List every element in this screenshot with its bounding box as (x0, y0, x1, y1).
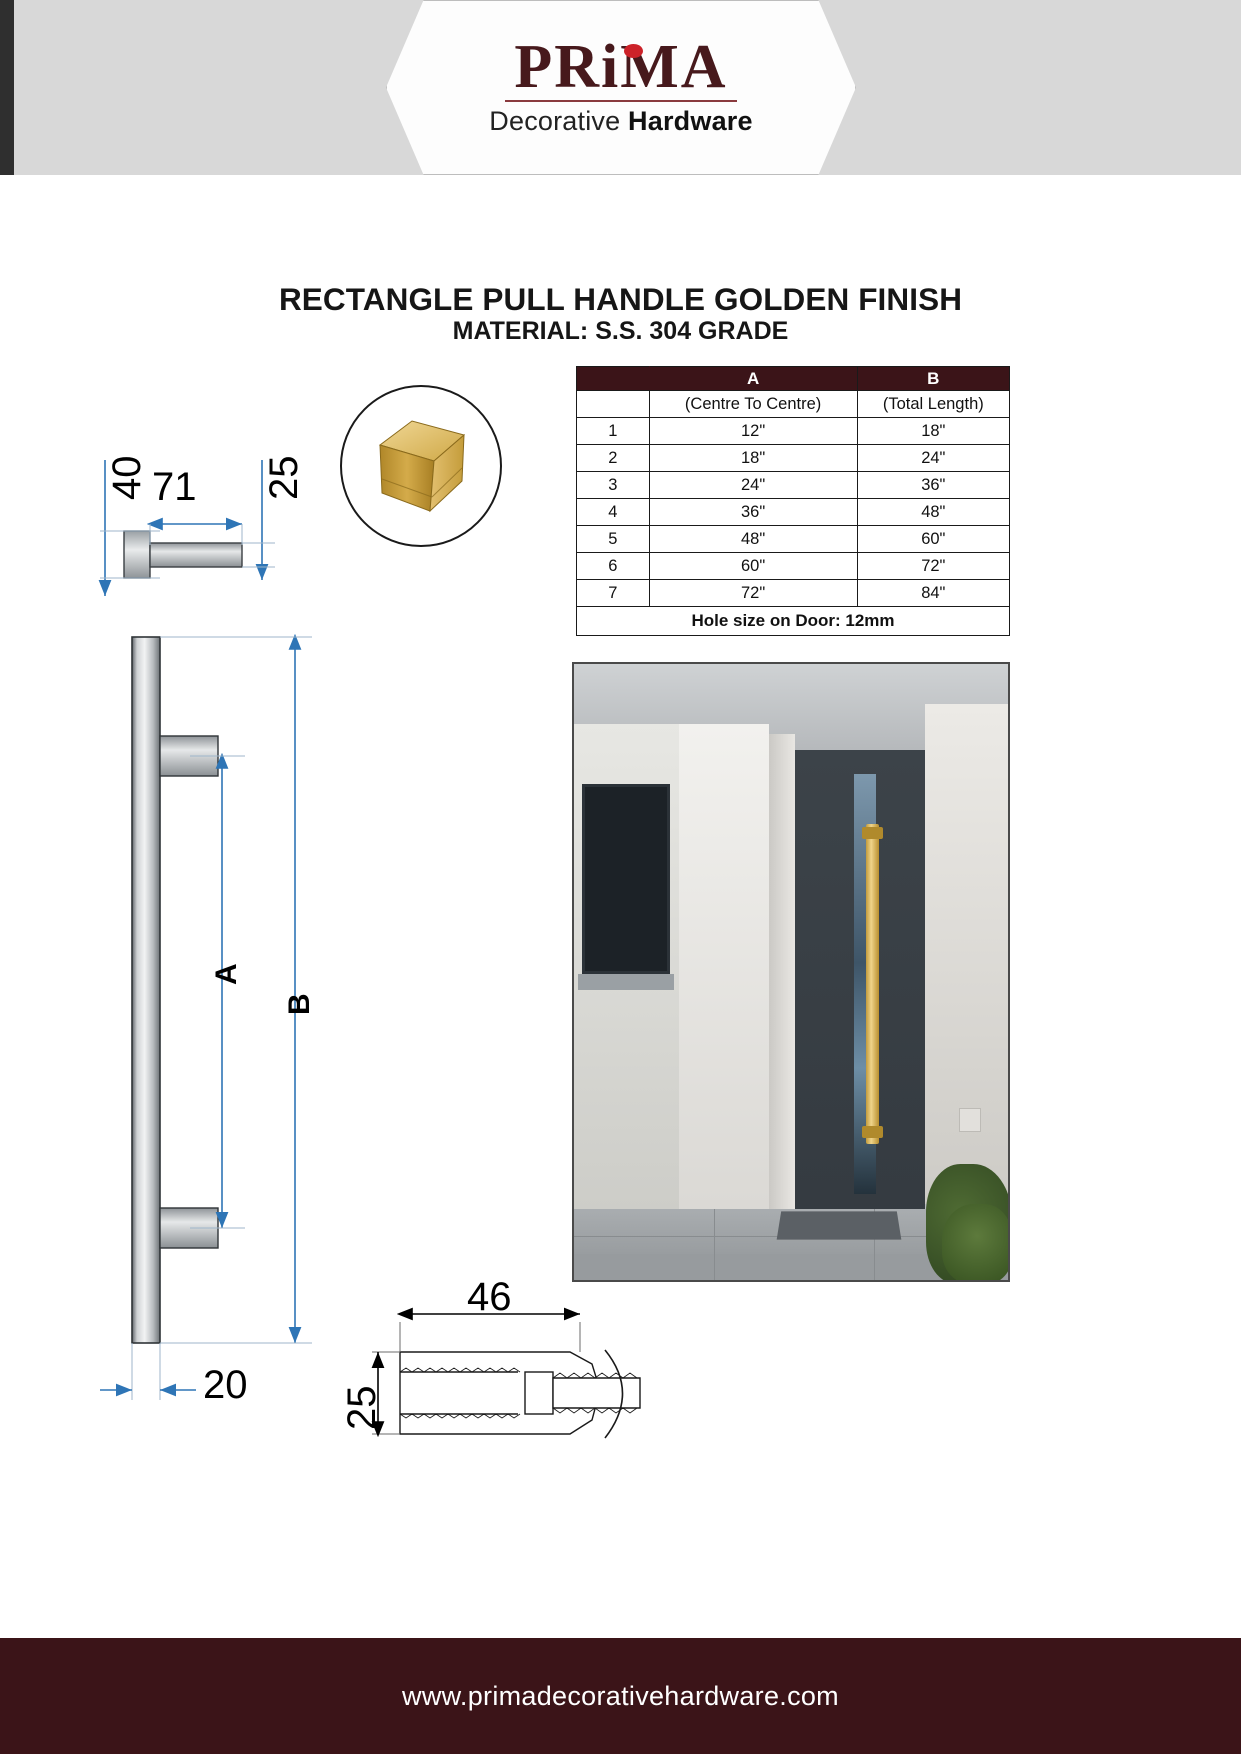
table-row: 5 48" 60" (577, 526, 1010, 553)
page-subtitle: MATERIAL: S.S. 304 GRADE (0, 317, 1241, 346)
dimension-label-71: 71 (152, 465, 197, 510)
photo-pull-handle (866, 824, 879, 1144)
dimension-71 (150, 524, 242, 545)
installation-photo (572, 662, 1010, 1282)
row-index: 2 (577, 445, 650, 472)
photo-handle-standoff-bottom (862, 1126, 883, 1138)
photo-paving-line (714, 1209, 715, 1282)
row-index: 3 (577, 472, 650, 499)
photo-wall-socket (959, 1108, 981, 1132)
dimension-b (160, 637, 312, 1343)
photo-window (582, 784, 670, 974)
photo-door-mat (777, 1211, 902, 1239)
table-row: 3 24" 36" (577, 472, 1010, 499)
handle-front-view (132, 637, 218, 1343)
standoff-stud-detail (400, 1350, 640, 1438)
profile-detail-circle (340, 385, 502, 547)
brand-tagline-light: Decorative (489, 106, 628, 136)
row-a-value: 72" (649, 580, 857, 607)
dimension-label-25-top: 25 (262, 456, 307, 501)
photo-shrub (942, 1204, 1010, 1282)
table-header: A B (577, 367, 1010, 391)
table-row: 6 60" 72" (577, 553, 1010, 580)
row-index: 4 (577, 499, 650, 526)
page-footer: www.primadecorativehardware.com (0, 1638, 1241, 1754)
dimension-label-20: 20 (203, 1363, 248, 1408)
table-row: 2 18" 24" (577, 445, 1010, 472)
dimension-label-b: B (283, 993, 317, 1015)
row-a-value: 24" (649, 472, 857, 499)
specification-table: A B (Centre To Centre) (Total Length) 1 … (576, 366, 1010, 636)
table-subheader-b: (Total Length) (857, 391, 1009, 418)
photo-window-sill (578, 974, 674, 990)
table-header-a: A (649, 367, 857, 391)
brand-logo-plate: PRiMA Decorative Hardware (386, 0, 856, 175)
website-url[interactable]: www.primadecorativehardware.com (0, 1638, 1241, 1754)
table-header-blank (577, 367, 650, 391)
photo-door-reveal (769, 734, 795, 1254)
dimension-20 (100, 1343, 196, 1400)
table-header-b: B (857, 367, 1009, 391)
brand-name: PRiMA (514, 33, 727, 101)
row-index: 1 (577, 418, 650, 445)
table-subheader-row: (Centre To Centre) (Total Length) (577, 391, 1010, 418)
row-index: 7 (577, 580, 650, 607)
standoff-side-view (124, 531, 242, 578)
row-b-value: 36" (857, 472, 1009, 499)
dimension-label-a: A (210, 963, 244, 985)
table-note-row: Hole size on Door: 12mm (577, 607, 1010, 636)
page-title: RECTANGLE PULL HANDLE GOLDEN FINISH (0, 281, 1241, 318)
dimension-a (190, 756, 245, 1228)
row-b-value: 72" (857, 553, 1009, 580)
brand-tagline-bold: Hardware (628, 106, 753, 136)
golden-profile-icon (372, 415, 468, 519)
row-a-value: 60" (649, 553, 857, 580)
table-row: 4 36" 48" (577, 499, 1010, 526)
dimension-label-25-stud: 25 (340, 1386, 385, 1431)
row-b-value: 60" (857, 526, 1009, 553)
dimension-label-40: 40 (105, 456, 150, 501)
dimension-label-46: 46 (467, 1275, 512, 1320)
row-a-value: 48" (649, 526, 857, 553)
row-b-value: 18" (857, 418, 1009, 445)
row-a-value: 36" (649, 499, 857, 526)
table-subheader-no (577, 391, 650, 418)
table-subheader-a: (Centre To Centre) (649, 391, 857, 418)
row-b-value: 48" (857, 499, 1009, 526)
photo-wall-mid (679, 724, 769, 1264)
row-b-value: 84" (857, 580, 1009, 607)
row-index: 5 (577, 526, 650, 553)
header-left-tab (0, 0, 14, 175)
row-a-value: 18" (649, 445, 857, 472)
table-row: 1 12" 18" (577, 418, 1010, 445)
hole-size-note: Hole size on Door: 12mm (577, 607, 1010, 636)
row-b-value: 24" (857, 445, 1009, 472)
brand-tagline: Decorative Hardware (489, 106, 752, 137)
row-a-value: 12" (649, 418, 857, 445)
brand-wordmark: PRiMA (514, 38, 727, 98)
table-row: 7 72" 84" (577, 580, 1010, 607)
row-index: 6 (577, 553, 650, 580)
page-header: PRiMA Decorative Hardware (0, 0, 1241, 175)
table-body: (Centre To Centre) (Total Length) 1 12" … (577, 391, 1010, 636)
photo-handle-standoff-top (862, 827, 883, 839)
